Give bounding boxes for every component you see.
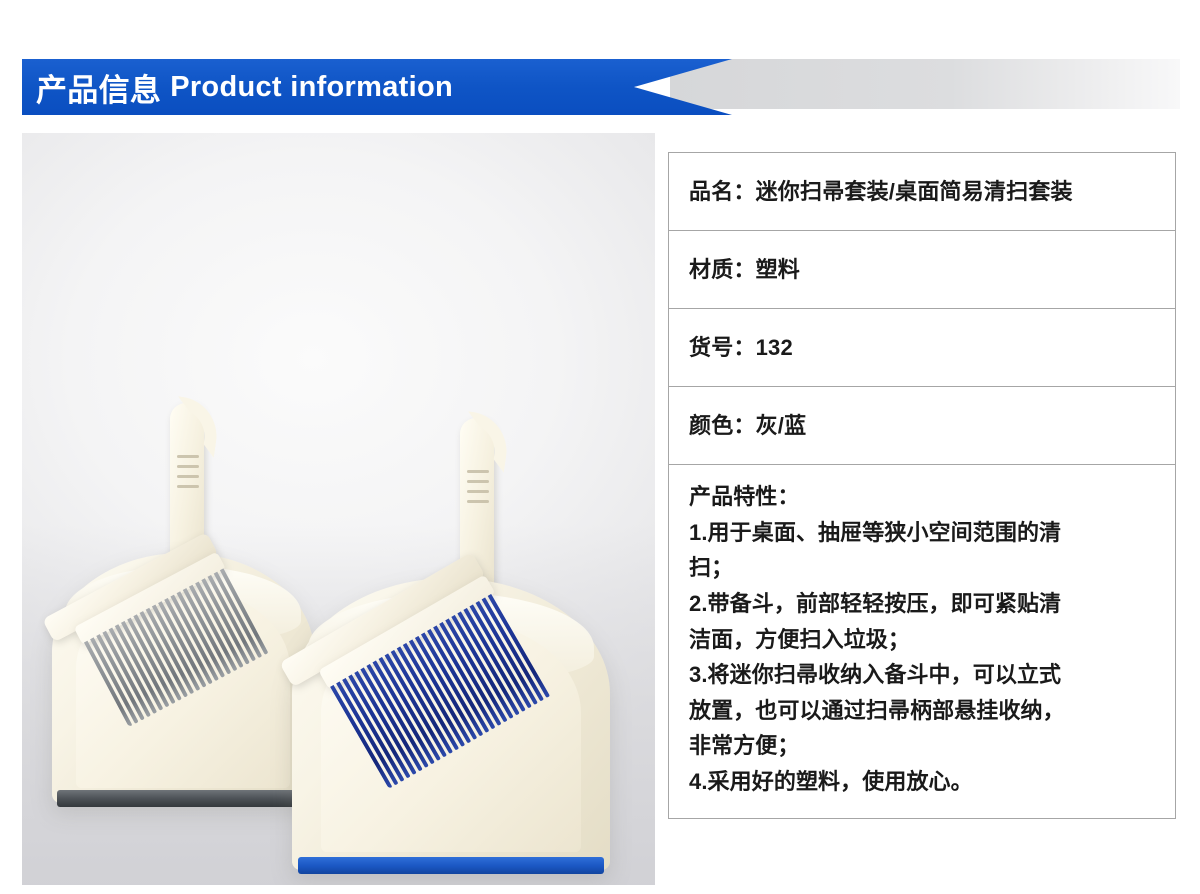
product-spec-table: 品名：迷你扫帚套装/桌面简易清扫套装 材质：塑料 货号：132 颜色：灰/蓝 产… [668,152,1176,819]
table-row-features: 产品特性： 1.用于桌面、抽屉等狭小空间范围的清 扫； 2.带备斗，前部轻轻按压… [669,465,1175,818]
table-row: 货号：132 [669,309,1175,387]
page-title-chinese: 产品信息 [36,65,161,110]
gray-hook-icon [170,396,221,458]
feature-line: 扫； [689,550,1155,586]
spec-color: 颜色：灰/蓝 [689,411,806,441]
table-row: 品名：迷你扫帚套装/桌面简易清扫套装 [669,153,1175,231]
spec-product-name: 品名：迷你扫帚套装/桌面简易清扫套装 [689,177,1073,207]
feature-line: 洁面，方便扫入垃圾； [689,622,1155,658]
spec-material: 材质：塑料 [689,255,800,285]
banner-tail-decoration [670,59,1180,109]
page-title-english: Product information [170,71,453,104]
blue-broom-dustpan-set [252,418,622,885]
feature-line: 放置，也可以通过扫帚柄部悬挂收纳， [689,693,1155,729]
blue-handle-grip-lines [467,470,489,510]
gray-handle-grip-lines [177,455,199,495]
page-header-banner: 产品信息 Product information [22,59,1180,115]
features-heading: 产品特性： [689,479,1155,515]
product-photo [22,133,655,885]
feature-line: 3.将迷你扫帚收纳入备斗中，可以立式 [689,657,1155,693]
page-title: 产品信息 Product information [36,59,453,115]
feature-line: 非常方便； [689,728,1155,764]
table-row: 材质：塑料 [669,231,1175,309]
table-row: 颜色：灰/蓝 [669,387,1175,465]
blue-hook-icon [460,411,511,473]
feature-line: 4.采用好的塑料，使用放心。 [689,764,1155,800]
spec-item-number: 货号：132 [689,333,793,363]
feature-line: 1.用于桌面、抽屉等狭小空间范围的清 [689,515,1155,551]
feature-line: 2.带备斗，前部轻轻按压，即可紧贴清 [689,586,1155,622]
